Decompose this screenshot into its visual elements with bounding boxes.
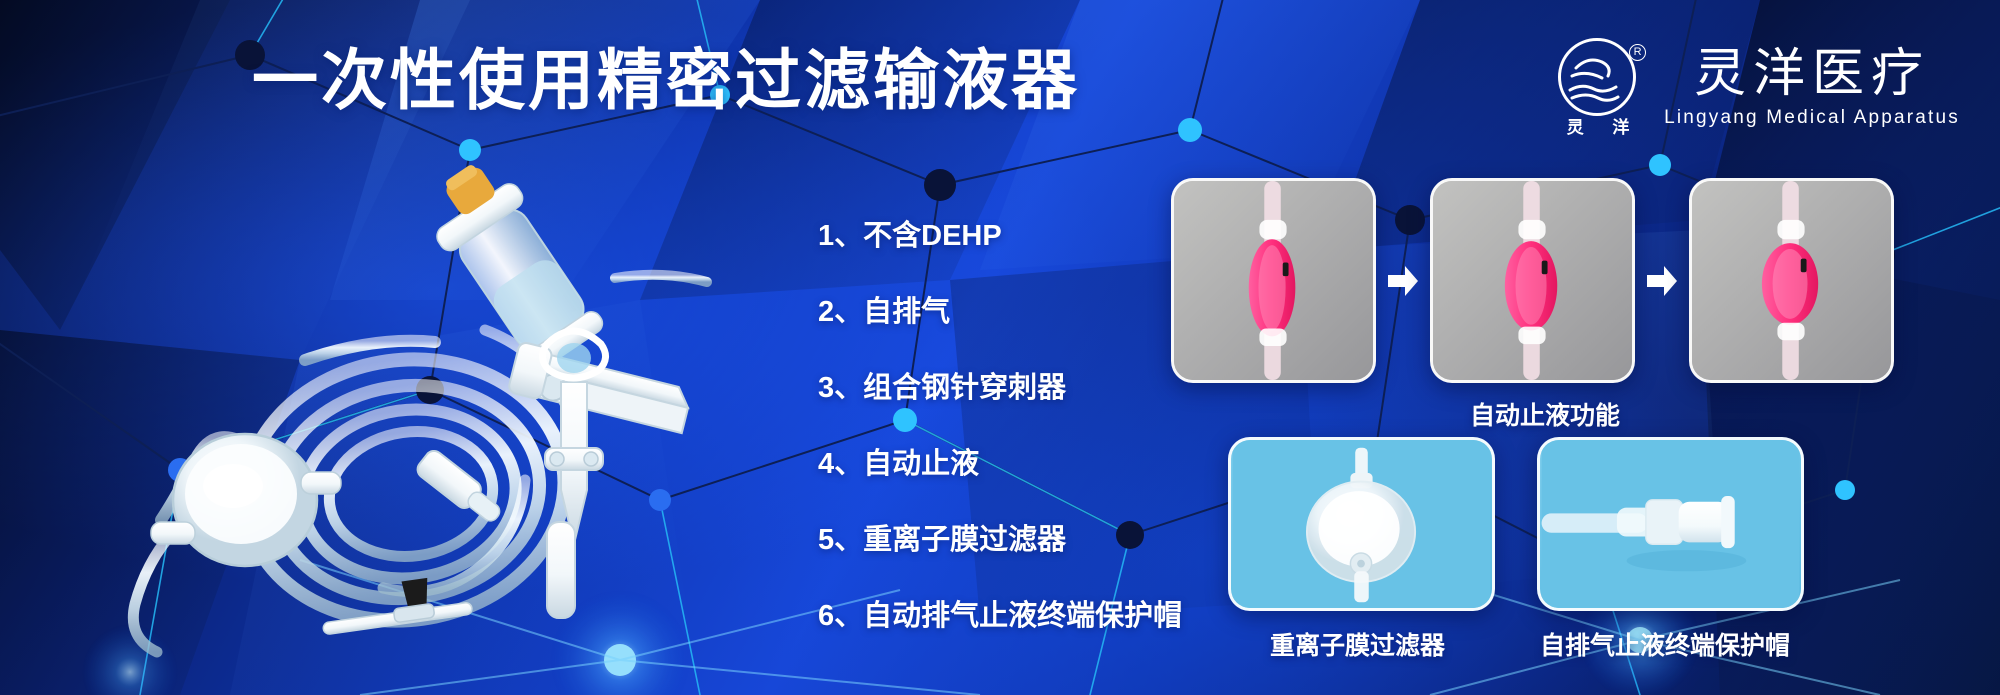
registered-trademark-icon: R xyxy=(1629,44,1646,61)
brand-logo: R 灵 洋 灵洋医疗 Lingyang Medical Apparatus xyxy=(1552,38,1960,138)
feature-item-2: 2、自排气 xyxy=(818,298,1182,327)
logo-emblem-icon: R 灵 洋 xyxy=(1552,38,1644,138)
feature-item-6: 6、自动排气止液终端保护帽 xyxy=(818,602,1182,631)
feature-item-1: 1、不含DEHP xyxy=(818,222,1182,251)
logo-emblem-subtext: 灵 洋 xyxy=(1552,113,1644,138)
page-title: 一次性使用精密过滤输液器 xyxy=(252,47,1080,113)
feature-item-3: 3、组合钢针穿刺器 xyxy=(818,374,1182,403)
gallery-photo-protector-cap xyxy=(1537,437,1804,611)
caption-protector-cap: 自排气止液终端保护帽 xyxy=(1540,626,1790,662)
gallery-photo-autostop-2 xyxy=(1430,178,1635,383)
brand-name-cn: 灵洋医疗 xyxy=(1694,47,1930,102)
product-banner: 一次性使用精密过滤输液器 R 灵 洋 灵洋医疗 Lingyang Medical… xyxy=(0,0,2000,695)
gallery-photo-filter xyxy=(1228,437,1495,611)
feature-item-5: 5、重离子膜过滤器 xyxy=(818,526,1182,555)
gallery-arrow-2 xyxy=(1643,262,1681,300)
brand-name-block: 灵洋医疗 Lingyang Medical Apparatus xyxy=(1664,47,1960,130)
feature-item-4: 4、自动止液 xyxy=(818,450,1182,479)
brand-name-en: Lingyang Medical Apparatus xyxy=(1664,107,1960,129)
hero-product-photo xyxy=(55,150,775,670)
gallery-photo-autostop-3 xyxy=(1689,178,1894,383)
caption-autostop: 自动止液功能 xyxy=(1470,396,1620,432)
caption-filter: 重离子膜过滤器 xyxy=(1270,626,1445,662)
gallery-arrow-1 xyxy=(1384,262,1422,300)
feature-list: 1、不含DEHP 2、自排气 3、组合钢针穿刺器 4、自动止液 5、重离子膜过滤… xyxy=(818,222,1182,631)
gallery-photo-autostop-1 xyxy=(1171,178,1376,383)
